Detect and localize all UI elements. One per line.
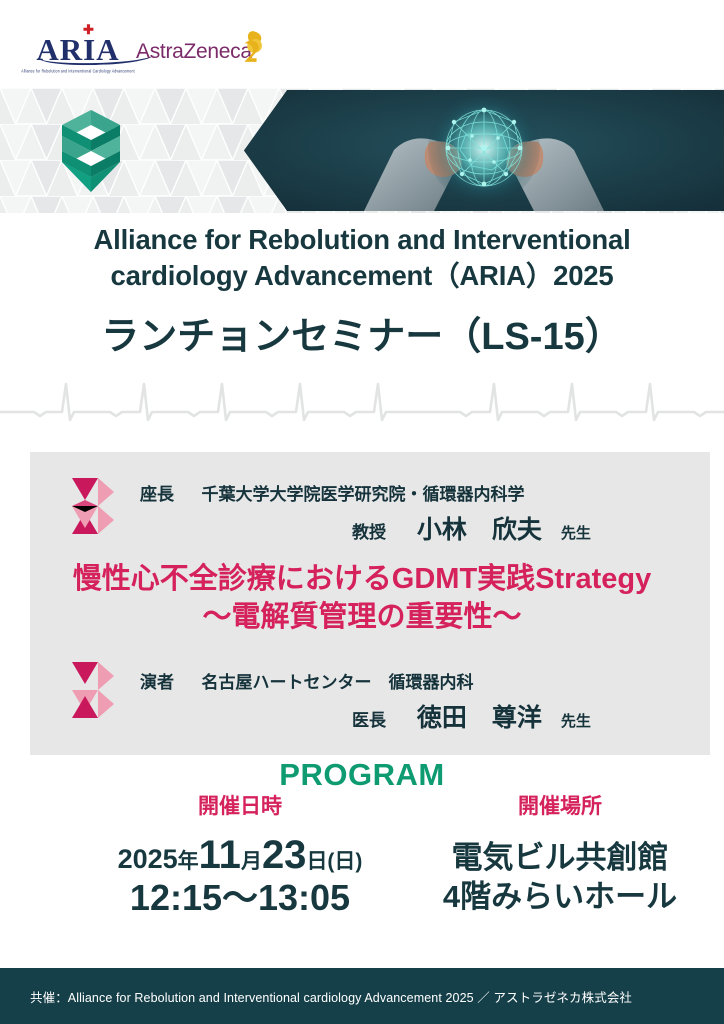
speaker-role-label: 演者 — [140, 673, 174, 692]
date-day: 23 — [262, 833, 307, 877]
footer-sponsors-text: 共催：Alliance for Rebolution and Intervent… — [30, 987, 632, 1006]
date-year: 2025 — [118, 844, 178, 874]
aria-wordmark: ✚ ARIA — [36, 34, 119, 65]
venue-heading: 開催場所 — [420, 790, 700, 820]
speaker-position: 医長 — [352, 711, 386, 730]
ecg-waveform-icon — [0, 372, 724, 428]
date-month-unit: 月 — [241, 850, 262, 873]
date-month: 11 — [199, 833, 241, 877]
astrazeneca-logo: AstraZeneca — [136, 40, 252, 76]
speaker-honorific: 先生 — [561, 713, 591, 730]
chair-name-line: 教授 小林 欣夫 先生 — [352, 510, 591, 546]
chair-honorific: 先生 — [561, 525, 591, 542]
network-sphere-photo — [244, 90, 724, 211]
banner-arrow-panel — [244, 90, 724, 211]
venue-value: 電気ビル共創館 4階みらいホール — [420, 838, 700, 917]
astrazeneca-ribbon-icon — [236, 30, 264, 64]
speaker-name: 徳田 尊洋 — [417, 704, 542, 732]
chair-affiliation: 千葉大学大学院医学研究院・循環器内科学 — [201, 485, 524, 504]
datetime-date-line: 2025年11月23日(日) — [50, 832, 430, 879]
page-title-line1: Alliance for Rebolution and Intervention… — [0, 222, 724, 258]
speaker-affiliation-line: 演者 名古屋ハートセンター 循環器内科 — [140, 668, 473, 693]
aria-hexagon-logo-icon — [62, 110, 120, 192]
chair-bullet-icon — [72, 478, 114, 534]
date-year-unit: 年 — [178, 850, 199, 873]
medical-cross-icon: ✚ — [83, 25, 92, 34]
aria-logo: ✚ ARIA Alliance for Rebolution and Inter… — [18, 34, 138, 73]
logo-row: ✚ ARIA Alliance for Rebolution and Inter… — [0, 28, 724, 88]
aria-tagline: Alliance for Rebolution and Intervention… — [18, 69, 138, 74]
program-band: PROGRAM — [0, 372, 724, 428]
speaker-affiliation: 名古屋ハートセンター 循環器内科 — [201, 673, 473, 692]
datetime-time: 12:15～13:05 — [50, 877, 430, 919]
chair-affiliation-line: 座長 千葉大学大学院医学研究院・循環器内科学 — [140, 480, 524, 505]
chair-position: 教授 — [352, 523, 386, 542]
chair-role-label: 座長 — [140, 485, 174, 504]
footer-bar: 共催：Alliance for Rebolution and Intervent… — [0, 968, 724, 1024]
astrazeneca-wordmark: AstraZeneca — [136, 40, 252, 63]
page-title-line2: cardiology Advancement（ARIA）2025 — [0, 258, 724, 294]
program-heading-text: PROGRAM — [265, 757, 458, 792]
page-title: Alliance for Rebolution and Intervention… — [0, 222, 724, 294]
date-day-unit: 日(日) — [306, 850, 362, 873]
speaker-bullet-icon — [72, 662, 114, 718]
seminar-subtitle: ランチョンセミナー（LS-15） — [0, 305, 724, 360]
venue-line1: 電気ビル共創館 — [420, 838, 700, 877]
lecture-title-line2: ～電解質管理の重要性～ — [0, 598, 724, 636]
datetime-value: 2025年11月23日(日) 12:15～13:05 — [50, 832, 430, 920]
lecture-title-line1: 慢性心不全診療におけるGDMT実践Strategy — [0, 560, 724, 598]
program-heading: PROGRAM — [0, 757, 724, 793]
lecture-title: 慢性心不全診療におけるGDMT実践Strategy ～電解質管理の重要性～ — [0, 560, 724, 637]
venue-line2: 4階みらいホール — [420, 877, 700, 916]
datetime-heading: 開催日時 — [60, 790, 420, 820]
seminar-poster: ✚ ARIA Alliance for Rebolution and Inter… — [0, 0, 724, 1024]
header-banner — [0, 88, 724, 213]
speaker-name-line: 医長 徳田 尊洋 先生 — [352, 698, 591, 734]
chair-name: 小林 欣夫 — [417, 516, 542, 544]
